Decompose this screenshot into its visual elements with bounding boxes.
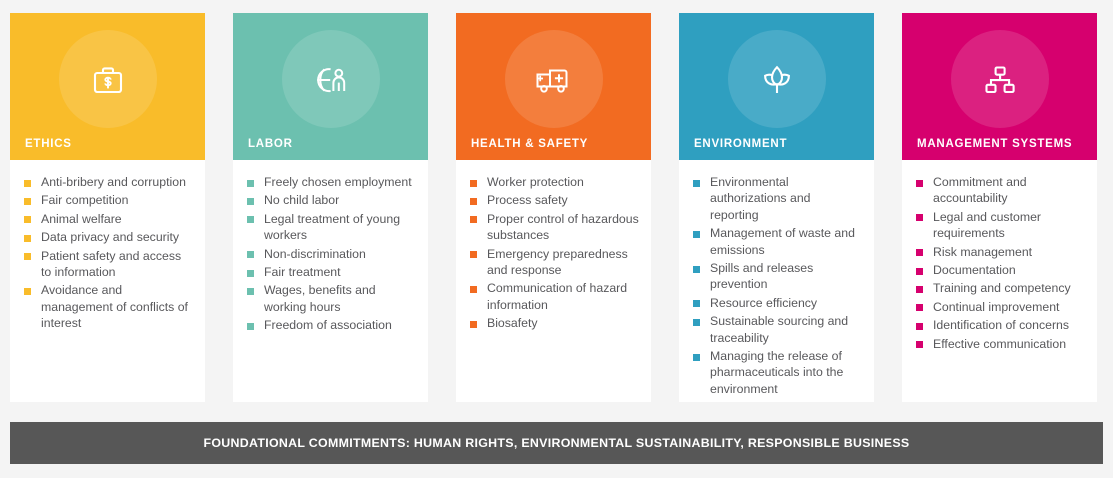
list-item-label: Process safety: [487, 193, 568, 207]
card-header: LABOR: [233, 13, 428, 160]
topic-list: Environmental authorizations and reporti…: [691, 174, 862, 397]
list-item-label: Data privacy and security: [41, 230, 179, 244]
globe-person-icon: [311, 63, 351, 97]
list-item: No child labor: [245, 192, 416, 208]
bullet-square-icon: [916, 286, 923, 293]
category-card: HEALTH & SAFETYWorker protectionProcess …: [456, 13, 651, 402]
card-header: ETHICS: [10, 13, 205, 160]
bullet-square-icon: [247, 216, 254, 223]
list-item: Environmental authorizations and reporti…: [691, 174, 862, 223]
list-item-label: Legal and customer requirements: [933, 210, 1041, 240]
bullet-square-icon: [470, 216, 477, 223]
bullet-square-icon: [916, 214, 923, 221]
list-item: Legal treatment of young workers: [245, 211, 416, 244]
bullet-square-icon: [470, 321, 477, 328]
list-item-label: Freedom of association: [264, 318, 392, 332]
list-item-label: Identification of concerns: [933, 318, 1069, 332]
card-title: MANAGEMENT SYSTEMS: [917, 139, 1072, 151]
topic-list: Worker protectionProcess safetyProper co…: [468, 174, 639, 332]
card-body: Freely chosen employmentNo child laborLe…: [233, 160, 428, 402]
topic-list: Freely chosen employmentNo child laborLe…: [245, 174, 416, 334]
list-item-label: No child labor: [264, 193, 339, 207]
bullet-square-icon: [470, 180, 477, 187]
list-item: Wages, benefits and working hours: [245, 282, 416, 315]
list-item-label: Effective communication: [933, 337, 1066, 351]
bullet-square-icon: [916, 341, 923, 348]
list-item: Non-discrimination: [245, 246, 416, 262]
list-item-label: Proper control of hazardous substances: [487, 212, 639, 242]
banner-lead-label: FOUNDATIONAL COMMITMENTS:: [204, 436, 414, 450]
card-title: ETHICS: [25, 139, 72, 151]
bullet-square-icon: [247, 198, 254, 205]
bullet-square-icon: [247, 180, 254, 187]
bullet-square-icon: [916, 268, 923, 275]
card-header: ENVIRONMENT: [679, 13, 874, 160]
bullet-square-icon: [24, 288, 31, 295]
bullet-square-icon: [247, 251, 254, 258]
list-item-label: Worker protection: [487, 175, 584, 189]
list-item: Data privacy and security: [22, 229, 193, 245]
card-body: Worker protectionProcess safetyProper co…: [456, 160, 651, 402]
list-item: Resource efficiency: [691, 295, 862, 311]
bullet-square-icon: [693, 231, 700, 238]
bullet-square-icon: [916, 304, 923, 311]
org-chart-icon: [980, 63, 1020, 97]
bullet-square-icon: [693, 300, 700, 307]
list-item-label: Fair treatment: [264, 265, 341, 279]
list-item-label: Commitment and accountability: [933, 175, 1027, 205]
list-item-label: Emergency preparedness and response: [487, 247, 628, 277]
category-card: ETHICSAnti-bribery and corruptionFair co…: [10, 13, 205, 402]
bullet-square-icon: [916, 323, 923, 330]
list-item: Effective communication: [914, 336, 1085, 352]
card-title: ENVIRONMENT: [694, 139, 787, 151]
list-item: Anti-bribery and corruption: [22, 174, 193, 190]
topic-list: Anti-bribery and corruptionFair competit…: [22, 174, 193, 332]
bullet-square-icon: [24, 180, 31, 187]
bullet-square-icon: [24, 198, 31, 205]
bullet-square-icon: [693, 266, 700, 273]
list-item-label: Patient safety and access to information: [41, 249, 181, 279]
infographic-root: ETHICSAnti-bribery and corruptionFair co…: [0, 0, 1113, 478]
bullet-square-icon: [247, 288, 254, 295]
list-item-label: Sustainable sourcing and traceability: [710, 314, 848, 344]
list-item: Animal welfare: [22, 211, 193, 227]
list-item: Proper control of hazardous substances: [468, 211, 639, 244]
list-item: Identification of concerns: [914, 317, 1085, 333]
list-item: Emergency preparedness and response: [468, 246, 639, 279]
list-item: Training and competency: [914, 280, 1085, 296]
bullet-square-icon: [24, 235, 31, 242]
card-body: Environmental authorizations and reporti…: [679, 160, 874, 402]
list-item: Documentation: [914, 262, 1085, 278]
card-title: HEALTH & SAFETY: [471, 139, 588, 151]
category-card: LABORFreely chosen employmentNo child la…: [233, 13, 428, 402]
list-item-label: Documentation: [933, 263, 1016, 277]
list-item-label: Non-discrimination: [264, 247, 366, 261]
list-item-label: Legal treatment of young workers: [264, 212, 400, 242]
list-item-label: Wages, benefits and working hours: [264, 283, 376, 313]
list-item: Managing the release of pharmaceuticals …: [691, 348, 862, 397]
bullet-square-icon: [916, 249, 923, 256]
card-title: LABOR: [248, 139, 293, 151]
ambulance-icon: [534, 63, 574, 97]
list-item-label: Animal welfare: [41, 212, 122, 226]
bullet-square-icon: [24, 253, 31, 260]
list-item-label: Management of waste and emissions: [710, 226, 855, 256]
bullet-square-icon: [470, 198, 477, 205]
leaf-sprout-icon: [757, 63, 797, 97]
category-card: ENVIRONMENTEnvironmental authorizations …: [679, 13, 874, 402]
list-item-label: Freely chosen employment: [264, 175, 412, 189]
list-item: Biosafety: [468, 315, 639, 331]
list-item-label: Avoidance and management of conflicts of…: [41, 283, 188, 330]
list-item: Worker protection: [468, 174, 639, 190]
foundational-commitments-text: FOUNDATIONAL COMMITMENTS: HUMAN RIGHTS, …: [204, 436, 910, 450]
category-card: MANAGEMENT SYSTEMSCommitment and account…: [902, 13, 1097, 402]
list-item: Fair treatment: [245, 264, 416, 280]
topic-list: Commitment and accountabilityLegal and c…: [914, 174, 1085, 352]
list-item: Freely chosen employment: [245, 174, 416, 190]
list-item: Commitment and accountability: [914, 174, 1085, 207]
list-item-label: Anti-bribery and corruption: [41, 175, 186, 189]
bullet-square-icon: [916, 180, 923, 187]
list-item: Legal and customer requirements: [914, 209, 1085, 242]
list-item-label: Spills and releases prevention: [710, 261, 813, 291]
bullet-square-icon: [693, 319, 700, 326]
card-body: Anti-bribery and corruptionFair competit…: [10, 160, 205, 402]
bullet-square-icon: [24, 216, 31, 223]
list-item-label: Managing the release of pharmaceuticals …: [710, 349, 843, 396]
list-item: Patient safety and access to information: [22, 248, 193, 281]
list-item-label: Continual improvement: [933, 300, 1059, 314]
card-header: MANAGEMENT SYSTEMS: [902, 13, 1097, 160]
list-item-label: Environmental authorizations and reporti…: [710, 175, 811, 222]
list-item-label: Resource efficiency: [710, 296, 817, 310]
list-item-label: Training and competency: [933, 281, 1071, 295]
bullet-square-icon: [693, 180, 700, 187]
card-header: HEALTH & SAFETY: [456, 13, 651, 160]
list-item: Communication of hazard information: [468, 280, 639, 313]
banner-strong-label: HUMAN RIGHTS, ENVIRONMENTAL SUSTAINABILI…: [414, 436, 910, 450]
bullet-square-icon: [247, 323, 254, 330]
list-item: Freedom of association: [245, 317, 416, 333]
bullet-square-icon: [247, 270, 254, 277]
bullet-square-icon: [693, 354, 700, 361]
list-item: Sustainable sourcing and traceability: [691, 313, 862, 346]
list-item: Process safety: [468, 192, 639, 208]
list-item: Continual improvement: [914, 299, 1085, 315]
list-item-label: Fair competition: [41, 193, 128, 207]
bullet-square-icon: [470, 286, 477, 293]
list-item-label: Biosafety: [487, 316, 538, 330]
card-body: Commitment and accountabilityLegal and c…: [902, 160, 1097, 402]
list-item: Spills and releases prevention: [691, 260, 862, 293]
list-item: Fair competition: [22, 192, 193, 208]
list-item: Risk management: [914, 244, 1085, 260]
foundational-commitments-banner: FOUNDATIONAL COMMITMENTS: HUMAN RIGHTS, …: [10, 422, 1103, 464]
list-item: Avoidance and management of conflicts of…: [22, 282, 193, 331]
list-item-label: Risk management: [933, 245, 1032, 259]
list-item-label: Communication of hazard information: [487, 281, 627, 311]
category-cards-row: ETHICSAnti-bribery and corruptionFair co…: [10, 13, 1103, 402]
list-item: Management of waste and emissions: [691, 225, 862, 258]
bullet-square-icon: [470, 251, 477, 258]
briefcase-dollar-icon: [88, 63, 128, 97]
